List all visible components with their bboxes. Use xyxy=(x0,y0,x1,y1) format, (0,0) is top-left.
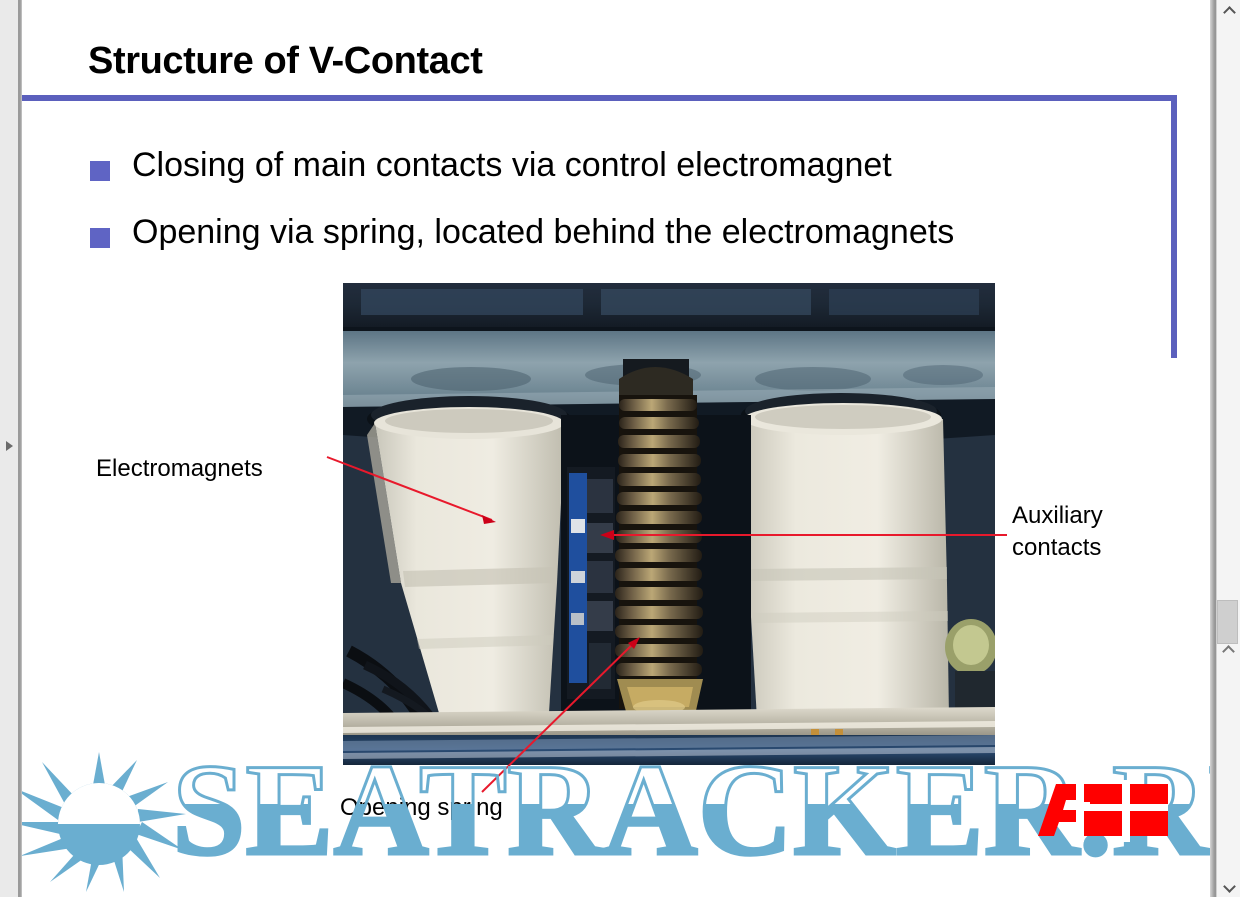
callout-auxiliary-line2: contacts xyxy=(1012,532,1162,564)
presentation-viewer: Structure of V-Contact Closing of main c… xyxy=(0,0,1240,897)
accent-rule-vertical xyxy=(1171,95,1177,358)
bullet-square-icon xyxy=(90,161,110,181)
expand-panel-arrow-icon[interactable] xyxy=(6,441,13,451)
page-title: Structure of V-Contact xyxy=(88,40,482,83)
scroll-up-button[interactable] xyxy=(1217,0,1240,20)
bullet-item-2: Opening via spring, located behind the e… xyxy=(90,215,954,249)
callout-electromagnets: Electromagnets xyxy=(96,453,263,485)
slide-canvas: Structure of V-Contact Closing of main c… xyxy=(22,0,1210,897)
abb-logo xyxy=(1032,780,1202,842)
sunburst-watermark-icon xyxy=(22,752,190,892)
callout-opening-spring: Opening spring xyxy=(340,792,503,824)
bullet-item-1-label: Closing of main contacts via control ele… xyxy=(132,148,892,182)
chevron-up-icon xyxy=(1225,6,1233,14)
chevron-up-small-icon xyxy=(1224,645,1233,654)
opening-spring xyxy=(615,395,703,715)
callout-auxiliary-line1: Auxiliary xyxy=(1012,500,1162,532)
accent-rule-horizontal xyxy=(22,95,1177,101)
vertical-scrollbar[interactable] xyxy=(1216,0,1240,897)
bullet-item-2-label: Opening via spring, located behind the e… xyxy=(132,215,954,249)
bullet-item-1: Closing of main contacts via control ele… xyxy=(90,148,892,182)
callout-auxiliary-contacts: Auxiliary contacts xyxy=(1012,500,1162,565)
scroll-down-button[interactable] xyxy=(1217,877,1240,897)
photo-illustration xyxy=(343,283,995,765)
bullet-square-icon xyxy=(90,228,110,248)
scrollbar-thumb[interactable] xyxy=(1217,600,1238,644)
figure-photo-v-contact xyxy=(343,283,995,765)
chevron-down-icon xyxy=(1225,883,1233,891)
